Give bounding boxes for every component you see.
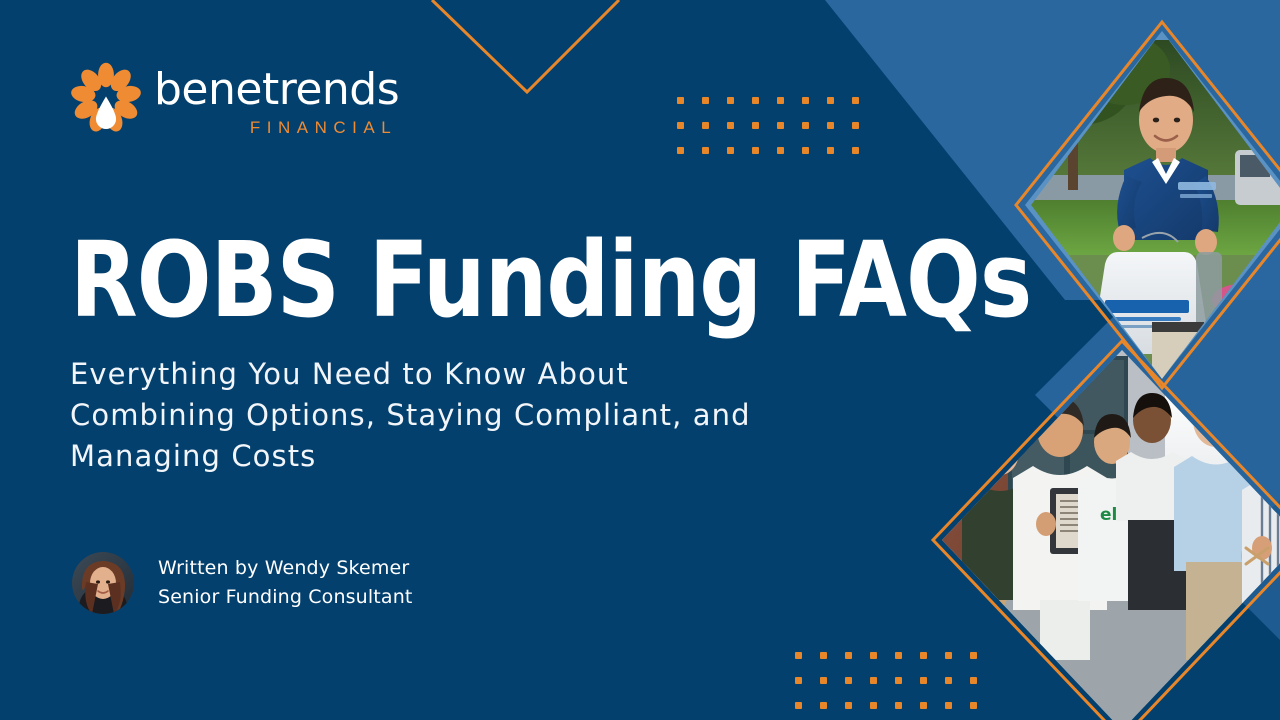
benetrends-logo[interactable]: benetrends FINANCIAL	[70, 62, 399, 138]
page-title: ROBS Funding FAQs	[70, 228, 897, 332]
dot	[795, 677, 802, 684]
dot	[795, 702, 802, 709]
dot	[895, 652, 902, 659]
dot	[870, 652, 877, 659]
dot	[677, 147, 684, 154]
author-role: Senior Funding Consultant	[158, 583, 413, 612]
dot	[852, 147, 859, 154]
orange-dot-grid-bottom	[786, 643, 986, 718]
dot	[852, 122, 859, 129]
dot	[920, 702, 927, 709]
dot	[945, 677, 952, 684]
dot	[870, 677, 877, 684]
dot	[827, 122, 834, 129]
dot	[845, 677, 852, 684]
hero-text-block: ROBS Funding FAQs Everything You Need to…	[70, 228, 950, 478]
dot	[895, 677, 902, 684]
dot	[752, 122, 759, 129]
dot	[970, 702, 977, 709]
author-byline: Written by Wendy Skemer Senior Funding C…	[72, 552, 413, 614]
logo-wordmark-group: benetrends FINANCIAL	[154, 62, 399, 138]
dot	[727, 122, 734, 129]
dot	[752, 147, 759, 154]
dot	[852, 97, 859, 104]
dot	[920, 677, 927, 684]
dot	[827, 97, 834, 104]
avatar	[72, 552, 134, 614]
flower-droplet-icon	[70, 62, 142, 134]
dot	[777, 147, 784, 154]
dot	[945, 702, 952, 709]
dot	[820, 677, 827, 684]
dot	[802, 97, 809, 104]
dot	[777, 122, 784, 129]
dot	[727, 97, 734, 104]
dot	[677, 122, 684, 129]
orange-dot-grid-top	[668, 88, 868, 163]
dot	[702, 147, 709, 154]
dot	[820, 652, 827, 659]
author-text-group: Written by Wendy Skemer Senior Funding C…	[158, 554, 413, 613]
dot	[920, 652, 927, 659]
dot	[702, 122, 709, 129]
dot	[802, 122, 809, 129]
dot	[795, 652, 802, 659]
dot	[752, 97, 759, 104]
dot	[895, 702, 902, 709]
dot	[870, 702, 877, 709]
dot	[677, 97, 684, 104]
slide-canvas: apels Friendly NING	[0, 0, 1280, 720]
logo-tagline: FINANCIAL	[154, 118, 399, 138]
dot	[945, 652, 952, 659]
dot	[820, 702, 827, 709]
dot	[702, 97, 709, 104]
dot	[802, 147, 809, 154]
dot	[827, 147, 834, 154]
dot	[727, 147, 734, 154]
logo-wordmark: benetrends	[154, 68, 399, 112]
dot	[970, 652, 977, 659]
author-name: Written by Wendy Skemer	[158, 554, 413, 583]
dot	[845, 702, 852, 709]
page-subtitle: Everything You Need to Know About Combin…	[70, 354, 790, 478]
dot	[970, 677, 977, 684]
dot	[777, 97, 784, 104]
dot	[845, 652, 852, 659]
